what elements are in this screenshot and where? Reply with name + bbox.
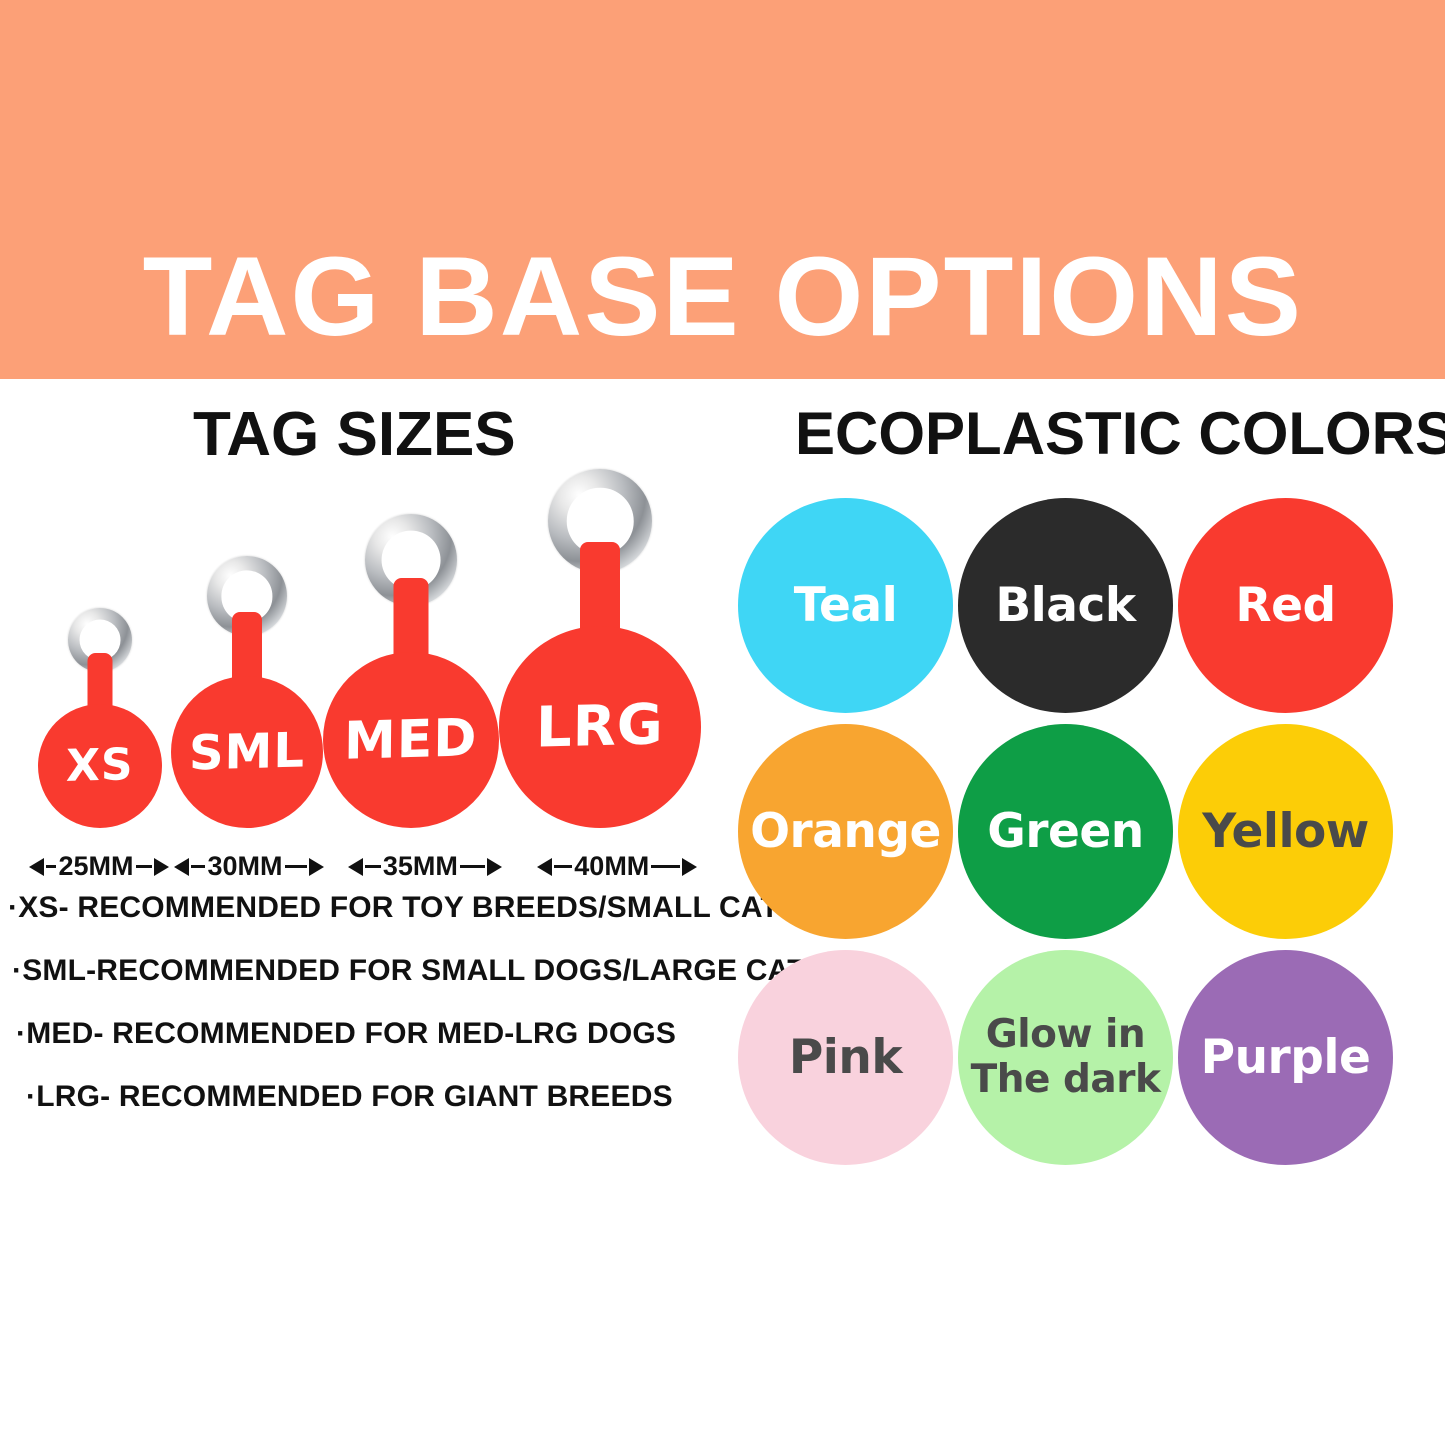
measurement-35mm: 35MM xyxy=(335,853,515,880)
ecoplastic-colors-heading: ECOPLASTIC COLORS xyxy=(795,404,1445,464)
color-swatch-label: Orange xyxy=(750,808,941,856)
color-label-line: Yellow xyxy=(1202,808,1369,856)
recommendation-item: ·SML-RECOMMENDED FOR SMALL DOGS/LARGE CA… xyxy=(8,956,768,986)
measurement-label: 40MM xyxy=(574,853,649,880)
color-label-line: Teal xyxy=(794,582,898,630)
color-swatch-label: Teal xyxy=(794,582,898,630)
arrow-left-icon xyxy=(174,858,189,876)
arrow-line-right xyxy=(285,865,307,868)
tag-sizes-heading: TAG SIZES xyxy=(193,404,516,466)
color-swatch-yellow[interactable]: Yellow xyxy=(1178,724,1393,939)
recommendation-item: ·LRG- RECOMMENDED FOR GIANT BREEDS xyxy=(8,1082,768,1112)
color-swatch-label: Red xyxy=(1235,582,1335,630)
color-swatch-label: Glow inThe dark xyxy=(971,1013,1161,1102)
measurement-40mm: 40MM xyxy=(518,853,716,880)
ecoplastic-color-grid: TealBlackRedOrangeGreenYellowPinkGlow in… xyxy=(738,498,1393,1165)
color-swatch-label: Black xyxy=(995,582,1135,630)
color-swatch-label: Pink xyxy=(789,1034,902,1082)
tag-body: MED xyxy=(323,652,499,828)
tag-size-label: XS xyxy=(66,743,134,789)
color-swatch-orange[interactable]: Orange xyxy=(738,724,953,939)
measurement-25mm: 25MM xyxy=(18,853,180,880)
color-swatch-glow-in-the-dark[interactable]: Glow inThe dark xyxy=(958,950,1173,1165)
arrow-left-icon xyxy=(348,858,363,876)
arrow-line-left xyxy=(191,865,205,868)
color-swatch-pink[interactable]: Pink xyxy=(738,950,953,1165)
tag-body: LRG xyxy=(499,626,701,828)
color-swatch-teal[interactable]: Teal xyxy=(738,498,953,713)
measurement-30mm: 30MM xyxy=(165,853,333,880)
color-swatch-label: Green xyxy=(987,808,1143,856)
tag-lrg[interactable]: LRG xyxy=(499,469,701,828)
header-banner: TAG BASE OPTIONS xyxy=(0,0,1445,379)
size-recommendation-list: ·XS- RECOMMENDED FOR TOY BREEDS/SMALL CA… xyxy=(8,893,768,1145)
tag-size-label: LRG xyxy=(536,697,664,756)
tag-neck xyxy=(580,542,620,638)
tag-size-label: MED xyxy=(344,712,478,767)
measurement-label: 30MM xyxy=(207,853,282,880)
arrow-right-icon xyxy=(309,858,324,876)
color-label-line: Black xyxy=(995,582,1135,630)
tag-body: SML xyxy=(171,676,323,828)
tag-xs[interactable]: XS xyxy=(38,608,162,828)
tag-sml[interactable]: SML xyxy=(171,556,323,828)
tag-med[interactable]: MED xyxy=(323,514,499,828)
arrow-line-right xyxy=(460,865,485,868)
measurement-label: 25MM xyxy=(58,853,133,880)
color-label-line: Red xyxy=(1235,582,1335,630)
arrow-line-right xyxy=(136,865,153,868)
color-label-line: Orange xyxy=(750,808,941,856)
tag-size-label: SML xyxy=(189,726,305,777)
arrow-right-icon xyxy=(682,858,697,876)
color-label-line: Purple xyxy=(1201,1034,1371,1082)
color-swatch-purple[interactable]: Purple xyxy=(1178,950,1393,1165)
arrow-right-icon xyxy=(487,858,502,876)
color-label-line: Glow in xyxy=(971,1013,1161,1057)
color-label-line: Pink xyxy=(789,1034,902,1082)
arrow-line-left xyxy=(554,865,572,868)
color-swatch-label: Purple xyxy=(1201,1034,1371,1082)
recommendation-item: ·XS- RECOMMENDED FOR TOY BREEDS/SMALL CA… xyxy=(8,893,768,923)
tag-base-options-infographic: TAG BASE OPTIONS TAG SIZES ECOPLASTIC CO… xyxy=(0,0,1445,1445)
arrow-line-right xyxy=(651,865,680,868)
tag-size-illustrations: XS25MMSML30MMMED35MMLRG40MM xyxy=(0,480,730,880)
tag-body: XS xyxy=(38,704,162,828)
color-swatch-green[interactable]: Green xyxy=(958,724,1173,939)
color-label-line: The dark xyxy=(971,1058,1161,1102)
color-swatch-label: Yellow xyxy=(1202,808,1369,856)
page-title: TAG BASE OPTIONS xyxy=(142,241,1302,379)
arrow-left-icon xyxy=(537,858,552,876)
recommendation-item: ·MED- RECOMMENDED FOR MED-LRG DOGS xyxy=(8,1019,768,1049)
color-label-line: Green xyxy=(987,808,1143,856)
arrow-left-icon xyxy=(29,858,44,876)
arrow-line-left xyxy=(46,865,57,868)
measurement-label: 35MM xyxy=(383,853,458,880)
arrow-line-left xyxy=(365,865,381,868)
color-swatch-black[interactable]: Black xyxy=(958,498,1173,713)
color-swatch-red[interactable]: Red xyxy=(1178,498,1393,713)
